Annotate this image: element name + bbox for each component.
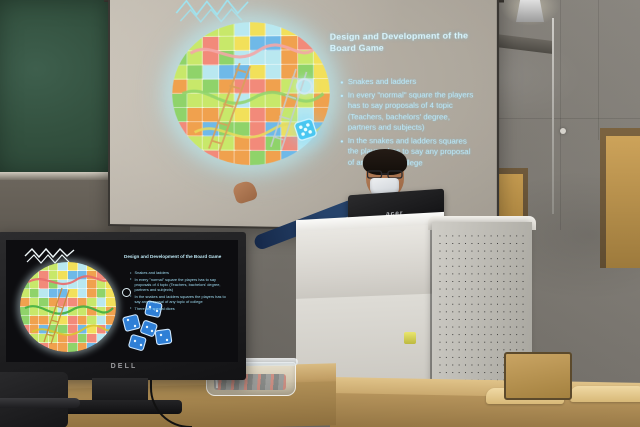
monitor-slide-bullet: Snakes and ladders <box>130 270 226 275</box>
monitor-slide-bullet: In the snakes and ladders squares the pl… <box>130 294 226 304</box>
hanging-rod <box>552 18 554 214</box>
wall-seam <box>480 118 640 119</box>
monitor-brand-logo: DELL <box>102 363 146 370</box>
wooden-door-panel <box>606 136 640 268</box>
lecture-hall-photo: Design and Development of the Board Game… <box>0 0 640 427</box>
wall-seam <box>560 0 561 230</box>
monitor-slide-bullet: In every "normal" square the players has… <box>130 277 226 292</box>
slide-title: Design and Development of the Board Game <box>330 30 477 54</box>
chair-armrest <box>0 398 80 408</box>
dice-icon <box>290 114 322 145</box>
monitor-slide-title: Design and Development of the Board Game <box>124 254 226 260</box>
snakes-and-ladders-board <box>20 262 116 352</box>
cyan-ring-icon <box>296 78 313 95</box>
ceiling-light-icon <box>516 0 544 22</box>
wall-seam <box>598 0 599 140</box>
snakes-and-ladders-overlay <box>20 262 116 352</box>
lecture-chair <box>504 352 572 400</box>
bench-pad <box>570 386 640 402</box>
wall-sign <box>404 332 416 344</box>
slide-bullet: In every "normal" square the players has… <box>340 90 479 133</box>
monitor-slide-bullets: Snakes and ladders In every "normal" squ… <box>130 270 226 312</box>
slide-bullet: Snakes and ladders <box>340 76 479 87</box>
monitor-slide-bullet: There are special dices <box>130 306 226 311</box>
wall-plate <box>560 128 566 134</box>
